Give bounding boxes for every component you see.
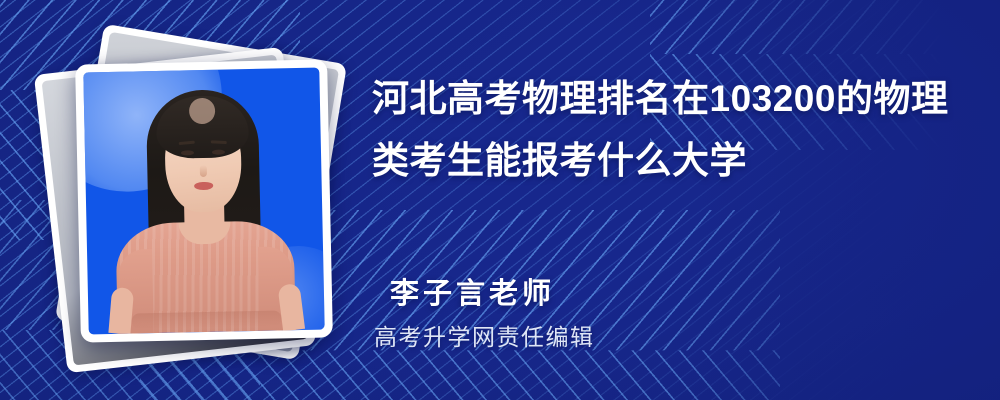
banner-text-block: 河北高考物理排名在103200的物理 类考生能报考什么大学 李子言老师 高考升学… <box>372 0 972 400</box>
author-role: 高考升学网责任编辑 <box>374 318 595 352</box>
article-cover-banner: 河北高考物理排名在103200的物理 类考生能报考什么大学 李子言老师 高考升学… <box>0 0 1000 400</box>
portrait-illustration <box>83 68 324 335</box>
author-name: 李子言老师 <box>390 270 555 312</box>
portrait-nose <box>200 165 207 177</box>
portrait-arm-right <box>277 283 305 331</box>
author-photo-card <box>75 59 333 342</box>
banner-headline: 河北高考物理排名在103200的物理 类考生能报考什么大学 <box>372 68 960 192</box>
author-photo <box>83 68 324 335</box>
portrait-card-stack <box>40 40 350 360</box>
portrait-arm-left <box>108 287 134 335</box>
